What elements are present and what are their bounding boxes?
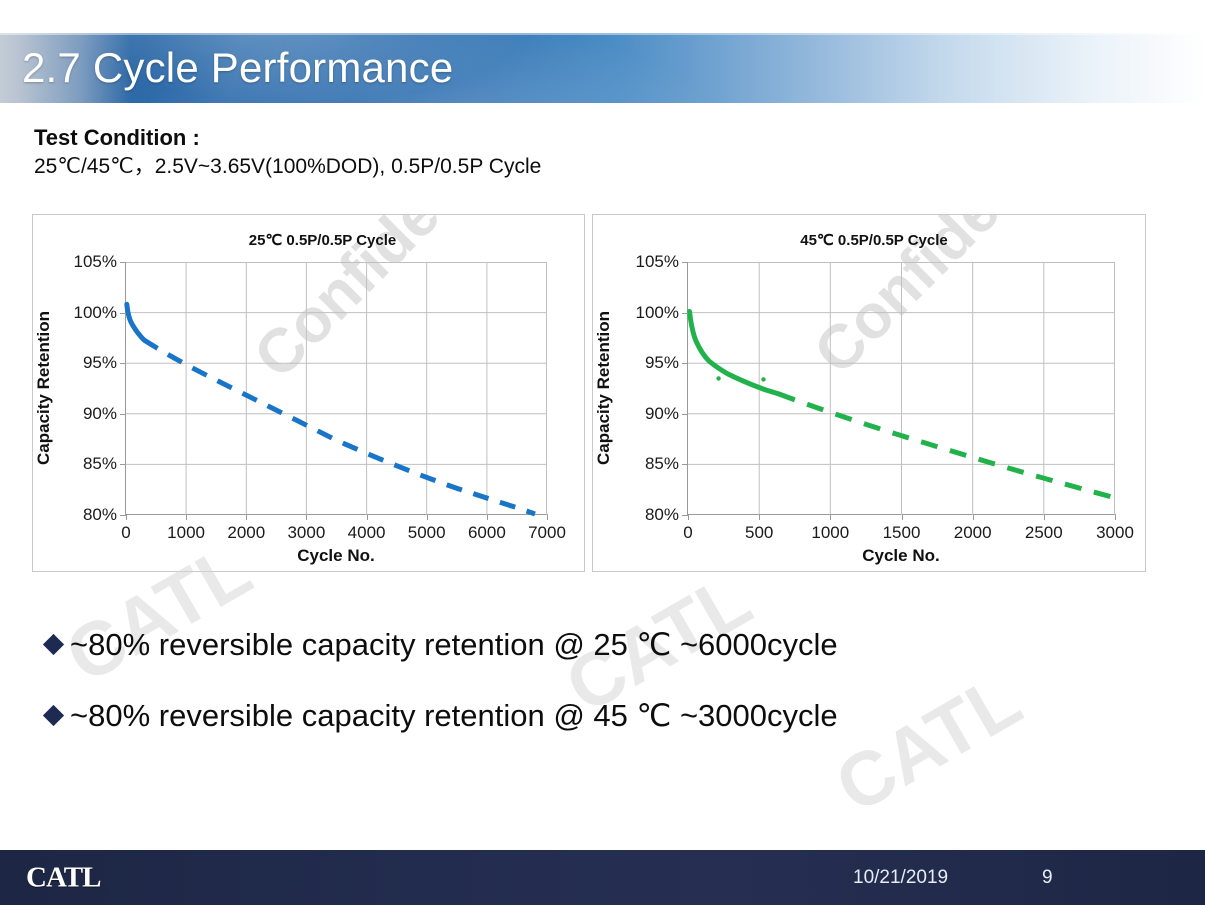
footer-page-number: 9 — [1042, 867, 1053, 889]
catl-logo: CATL — [26, 861, 100, 894]
y-tick-label-25c: 90% — [83, 404, 117, 424]
y-tick-label-25c: 85% — [83, 454, 117, 474]
x-tick-label-45c: 1500 — [883, 523, 921, 543]
y-tick-label-25c: 95% — [83, 353, 117, 373]
x-tick-label-25c: 1000 — [167, 523, 205, 543]
x-axis-title-25c: Cycle No. — [126, 546, 546, 566]
test-condition-block: Test Condition : 25℃/45℃，2.5V~3.65V(100%… — [34, 124, 541, 181]
y-tick-label-45c: 95% — [645, 353, 679, 373]
y-tick-label-45c: 100% — [636, 303, 679, 323]
list-item: ~80% reversible capacity retention @ 45 … — [46, 683, 1146, 747]
list-item: ~80% reversible capacity retention @ 25 … — [46, 612, 1146, 676]
y-tick-label-45c: 90% — [645, 404, 679, 424]
y-tick-label-25c: 80% — [83, 505, 117, 525]
x-tick-label-45c: 0 — [683, 523, 692, 543]
diamond-bullet-icon — [43, 704, 64, 725]
bullet-text: ~80% reversible capacity retention @ 25 … — [70, 629, 838, 660]
chart-panel-45c: Confidential 45℃ 0.5P/0.5P Cycle Capacit… — [592, 214, 1146, 572]
x-tick-label-25c: 2000 — [227, 523, 265, 543]
x-axis-title-45c: Cycle No. — [688, 546, 1114, 566]
x-tick-label-45c: 2000 — [954, 523, 992, 543]
slide-title-bar: 2.7 Cycle Performance — [0, 33, 1205, 103]
x-tick-label-25c: 5000 — [408, 523, 446, 543]
chart-title-25c: 25℃ 0.5P/0.5P Cycle — [33, 231, 584, 249]
slide-footer: CATL 10/21/2019 9 — [0, 850, 1205, 905]
y-tick-label-45c: 85% — [645, 454, 679, 474]
x-tick-label-45c: 1000 — [811, 523, 849, 543]
footer-date: 10/21/2019 — [853, 867, 948, 889]
y-axis-title-45c: Capacity Retention — [594, 311, 614, 465]
x-tick-label-25c: 0 — [121, 523, 130, 543]
plot-area-25c: Capacity Retention Cycle No. — [125, 262, 546, 515]
bullet-list: ~80% reversible capacity retention @ 25 … — [46, 612, 1146, 747]
x-tick-label-45c: 500 — [745, 523, 773, 543]
x-tick-label-25c: 7000 — [528, 523, 566, 543]
plot-area-45c: Capacity Retention Cycle No. — [687, 262, 1114, 515]
x-tick-label-45c: 3000 — [1096, 523, 1134, 543]
x-tick-label-45c: 2500 — [1025, 523, 1063, 543]
y-tick-label-25c: 105% — [74, 252, 117, 272]
x-tick-label-25c: 3000 — [287, 523, 325, 543]
x-tick-label-25c: 6000 — [468, 523, 506, 543]
chart-canvas-45c — [688, 262, 1115, 515]
chart-panel-25c: Confidential 25℃ 0.5P/0.5P Cycle Capacit… — [32, 214, 585, 572]
diamond-bullet-icon — [43, 633, 64, 654]
y-tick-label-25c: 100% — [74, 303, 117, 323]
y-axis-title-25c: Capacity Retention — [34, 311, 54, 465]
test-condition-heading: Test Condition : — [34, 124, 541, 152]
x-tick-label-25c: 4000 — [348, 523, 386, 543]
outlier-point — [761, 377, 765, 381]
test-condition-detail: 25℃/45℃，2.5V~3.65V(100%DOD), 0.5P/0.5P C… — [34, 154, 541, 181]
chart-canvas-25c — [126, 262, 547, 515]
outlier-point — [716, 376, 720, 380]
bullet-text: ~80% reversible capacity retention @ 45 … — [70, 700, 838, 731]
title-bar-top-edge — [0, 33, 1205, 35]
chart-title-45c: 45℃ 0.5P/0.5P Cycle — [593, 231, 1145, 249]
page-title: 2.7 Cycle Performance — [22, 44, 453, 92]
y-tick-label-45c: 80% — [645, 505, 679, 525]
y-tick-label-45c: 105% — [636, 252, 679, 272]
